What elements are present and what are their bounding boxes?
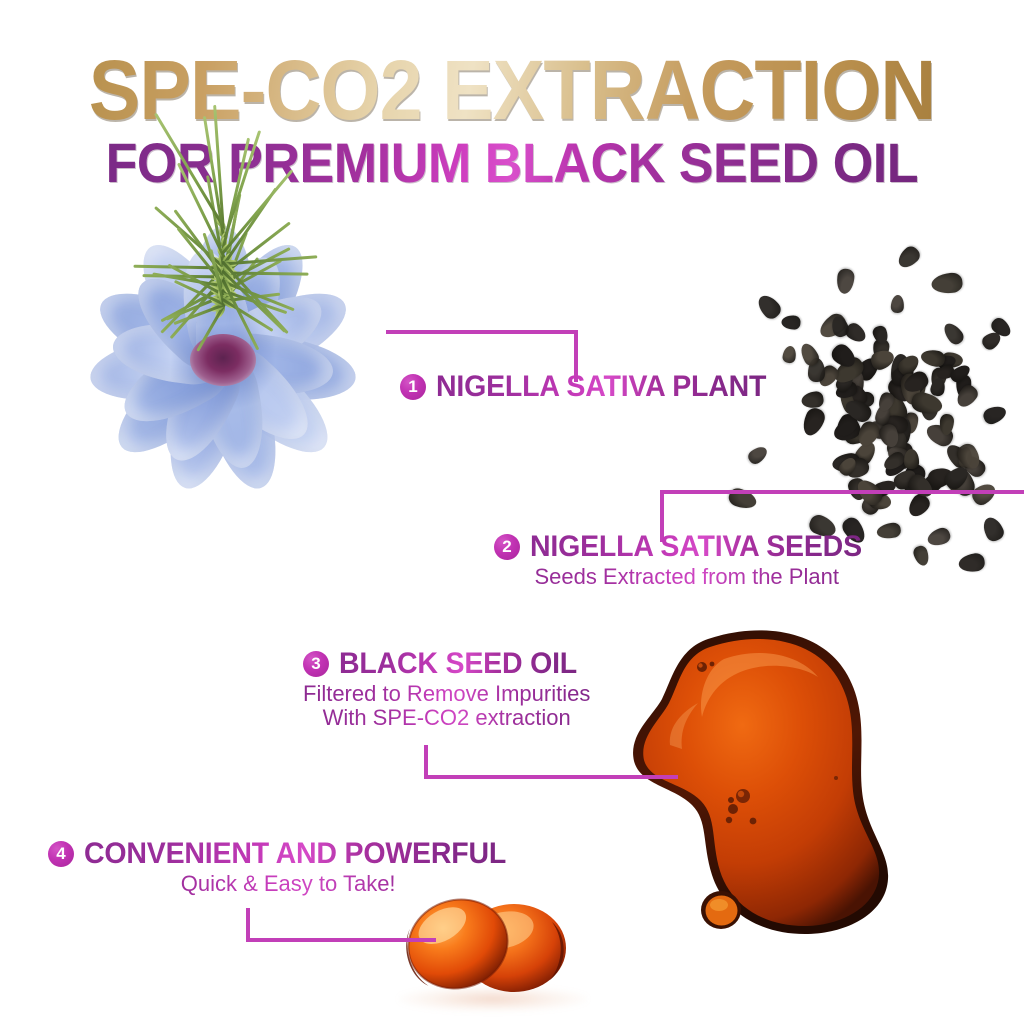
black-seed bbox=[894, 243, 922, 271]
black-seed bbox=[746, 443, 770, 466]
callout-3-badge: 3 bbox=[303, 651, 329, 677]
black-seed bbox=[727, 486, 759, 512]
callout-4-title: CONVENIENT AND POWERFUL bbox=[84, 838, 506, 870]
black-seed bbox=[876, 521, 902, 540]
black-seed bbox=[799, 405, 827, 438]
callout-1-badge: 1 bbox=[400, 374, 426, 400]
black-seed bbox=[800, 390, 824, 410]
black-seed bbox=[926, 526, 953, 548]
black-seed bbox=[913, 545, 932, 568]
page-subtitle: FOR PREMIUM BLACK SEED OIL bbox=[106, 134, 919, 192]
black-seed bbox=[891, 295, 905, 314]
callout-4-subtitles: Quick & Easy to Take! bbox=[48, 872, 528, 896]
callout-2-title: NIGELLA SATIVA SEEDS bbox=[530, 531, 862, 563]
callout-1[interactable]: 1 NIGELLA SATIVA PLANT bbox=[400, 371, 784, 403]
black-seed bbox=[981, 403, 1008, 426]
callout-2-subtitle-1: Seeds Extracted from the Plant bbox=[494, 565, 879, 589]
oil-droplet bbox=[700, 890, 742, 930]
callout-3-subtitles: Filtered to Remove Impurities With SPE-C… bbox=[303, 682, 590, 730]
black-seed bbox=[940, 320, 966, 348]
infographic-canvas: SPE-CO2 EXTRACTION FOR PREMIUM BLACK SEE… bbox=[0, 0, 1024, 1024]
nigella-sativa-flower-image bbox=[58, 222, 388, 497]
callout-3[interactable]: 3 BLACK SEED OIL Filtered to Remove Impu… bbox=[303, 648, 590, 730]
black-seed bbox=[958, 553, 986, 574]
callout-3-subtitle-1: Filtered to Remove Impurities bbox=[303, 682, 590, 706]
callout-4-subtitle-1: Quick & Easy to Take! bbox=[48, 872, 528, 896]
black-seed bbox=[980, 515, 1007, 544]
header-block: SPE-CO2 EXTRACTION FOR PREMIUM BLACK SEE… bbox=[0, 48, 1024, 192]
callout-1-title: NIGELLA SATIVA PLANT bbox=[436, 371, 766, 403]
black-seed-oil-image bbox=[612, 625, 922, 940]
callout-3-subtitle-2: With SPE-CO2 extraction bbox=[303, 706, 590, 730]
callout-4[interactable]: 4 CONVENIENT AND POWERFUL Quick & Easy t… bbox=[48, 838, 528, 896]
callout-2-subtitles: Seeds Extracted from the Plant bbox=[494, 565, 879, 589]
black-seed bbox=[754, 291, 784, 322]
black-seed bbox=[781, 315, 801, 330]
black-seed bbox=[782, 345, 798, 364]
callout-4-badge: 4 bbox=[48, 841, 74, 867]
callout-3-title: BLACK SEED OIL bbox=[339, 648, 577, 680]
callout-2[interactable]: 2 NIGELLA SATIVA SEEDS Seeds Extracted f… bbox=[494, 531, 879, 589]
black-seed bbox=[836, 268, 856, 295]
callout-2-badge: 2 bbox=[494, 534, 520, 560]
black-seed bbox=[904, 449, 920, 470]
softgel-capsules-image bbox=[392, 878, 582, 1010]
black-seed bbox=[930, 272, 963, 295]
